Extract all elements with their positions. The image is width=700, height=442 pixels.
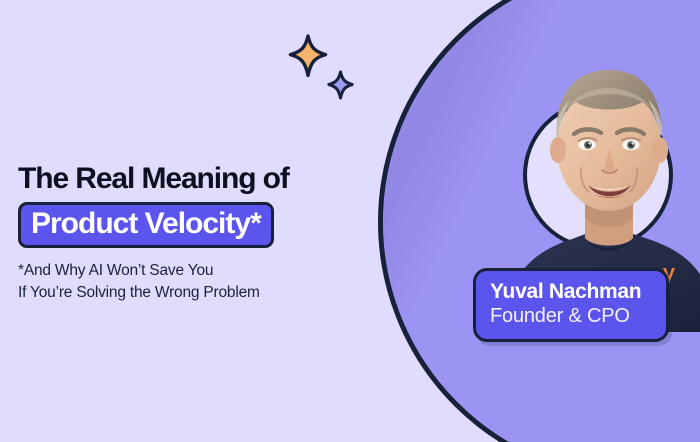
sparkle-small-icon bbox=[327, 70, 354, 100]
subtitle-line-2: If You’re Solving the Wrong Problem bbox=[18, 282, 348, 304]
speaker-role: Founder & CPO bbox=[490, 304, 652, 328]
sparkle-large-icon bbox=[288, 34, 328, 78]
highlight-phrase: Product Velocity* bbox=[18, 202, 274, 248]
highlight-wrap: Product Velocity* bbox=[18, 202, 274, 248]
headline: The Real Meaning of bbox=[18, 162, 348, 195]
speaker-name-badge: Yuval Nachman Founder & CPO bbox=[473, 268, 669, 342]
subtitle-line-1: *And Why AI Won’t Save You bbox=[18, 260, 348, 282]
slide-canvas: Yuval Nachman Founder & CPO The Real Mea… bbox=[0, 0, 700, 442]
speaker-name: Yuval Nachman bbox=[490, 280, 652, 304]
title-text-block: The Real Meaning of Product Velocity* *A… bbox=[18, 162, 348, 305]
